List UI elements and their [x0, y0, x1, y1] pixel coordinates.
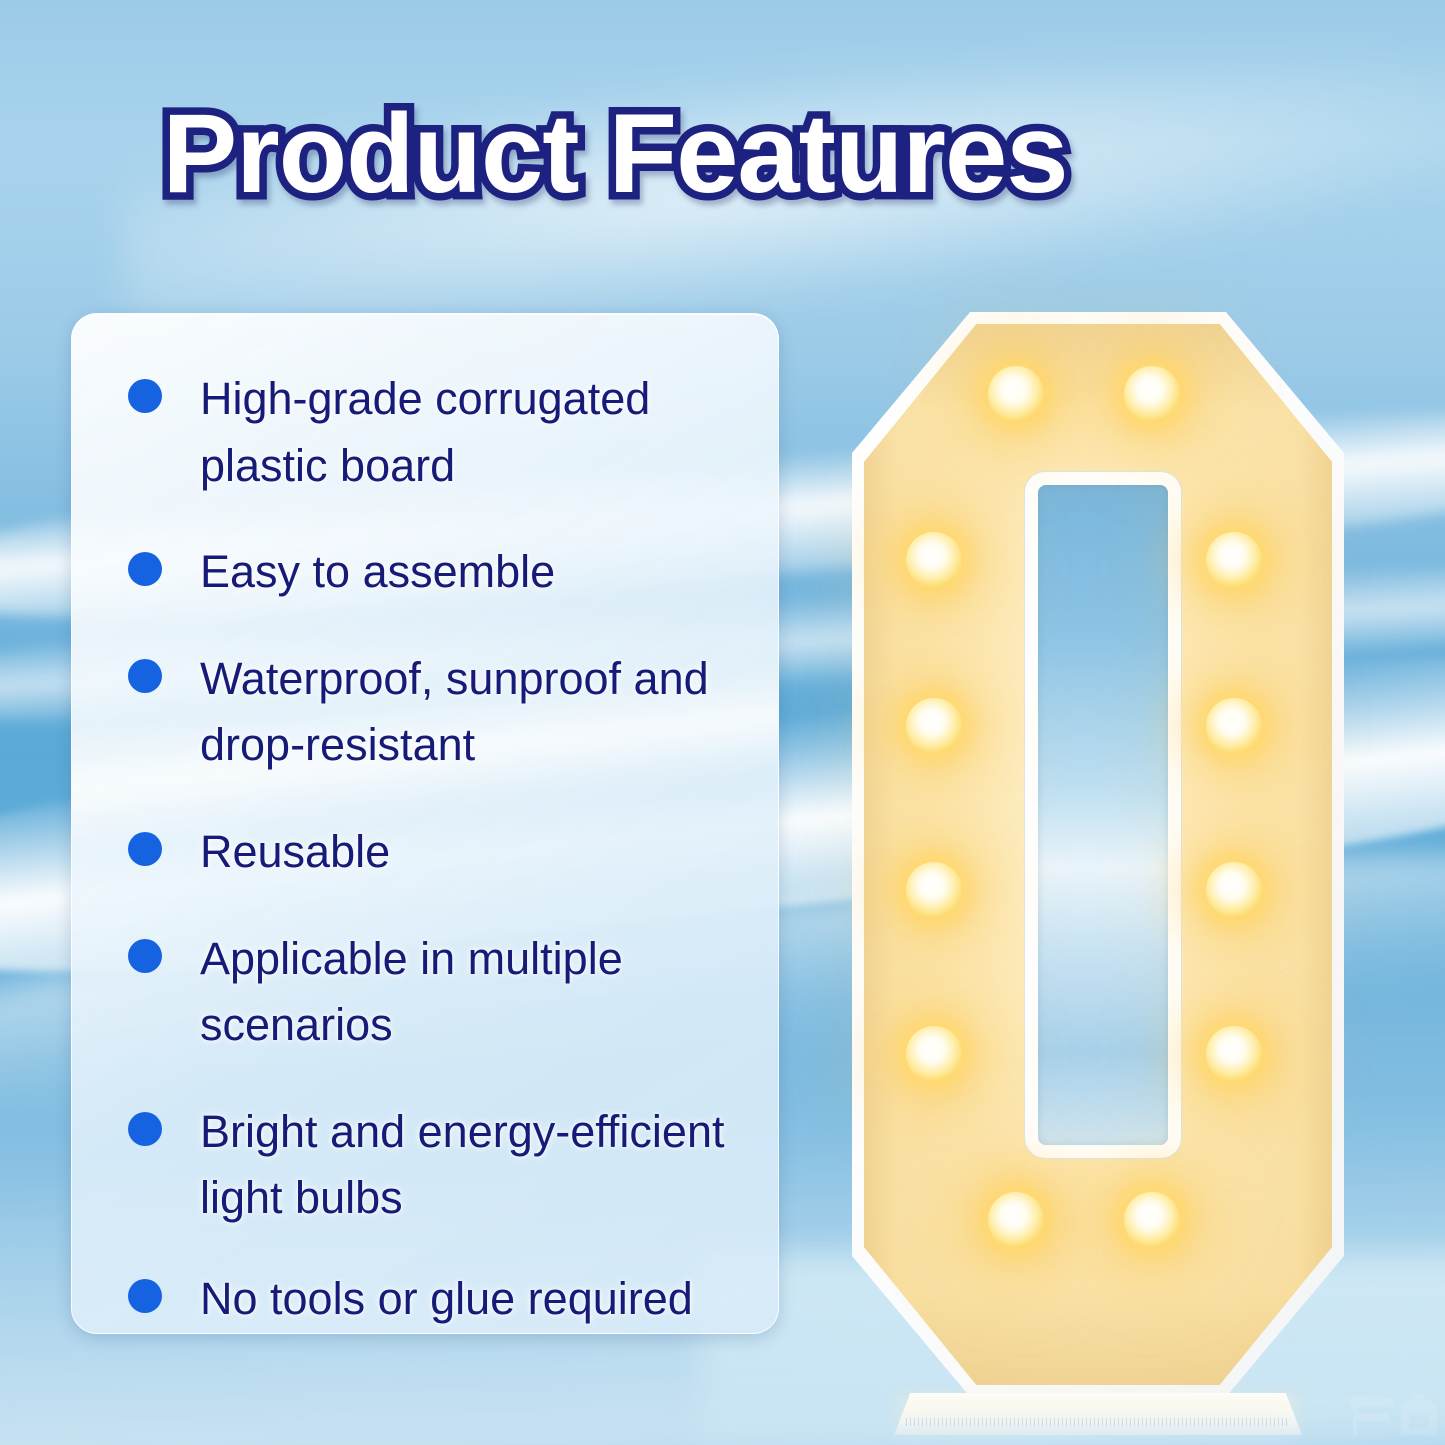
- feature-text: High-grade corrugated plastic board: [200, 366, 752, 499]
- bullet-dot-icon: [128, 1279, 162, 1313]
- product-image-marquee-letter: [852, 312, 1344, 1397]
- light-bulb-icon: [1124, 366, 1180, 422]
- feature-text: Applicable in multiple scenarios: [200, 926, 752, 1059]
- list-item: High-grade corrugated plastic board: [128, 366, 752, 499]
- light-bulb-icon: [906, 698, 962, 754]
- product-feature-graphic: Product Features High-grade corrugated p…: [0, 0, 1445, 1445]
- list-item: Waterproof, sunproof and drop-resistant: [128, 646, 752, 779]
- list-item: Bright and energy-efficient light bulbs: [128, 1099, 752, 1232]
- light-bulb-icon: [906, 1026, 962, 1082]
- list-item: Reusable: [128, 819, 752, 886]
- light-bulb-icon: [988, 1192, 1044, 1248]
- letter-base-stand: [894, 1393, 1302, 1435]
- feature-text: Reusable: [200, 819, 390, 886]
- bullet-dot-icon: [128, 832, 162, 866]
- feature-text: Easy to assemble: [200, 539, 555, 606]
- bullet-dot-icon: [128, 1112, 162, 1146]
- feature-list: High-grade corrugated plastic board Easy…: [72, 314, 778, 1333]
- page-title: Product Features: [0, 95, 1230, 213]
- list-item: No tools or glue required: [128, 1266, 752, 1333]
- feature-panel: High-grade corrugated plastic board Easy…: [71, 313, 779, 1334]
- feature-text: Bright and energy-efficient light bulbs: [200, 1099, 752, 1232]
- light-bulb-icon: [1206, 698, 1262, 754]
- light-bulb-icon: [1206, 1026, 1262, 1082]
- light-bulb-icon: [1206, 862, 1262, 918]
- feature-text: Waterproof, sunproof and drop-resistant: [200, 646, 752, 779]
- feature-text: No tools or glue required: [200, 1266, 693, 1333]
- bullet-dot-icon: [128, 659, 162, 693]
- light-bulb-icon: [1206, 532, 1262, 588]
- light-bulb-icon: [906, 862, 962, 918]
- list-item: Applicable in multiple scenarios: [128, 926, 752, 1059]
- watermark-icon: [1343, 1383, 1439, 1441]
- list-item: Easy to assemble: [128, 539, 752, 606]
- letter-counter-hole: [1038, 485, 1168, 1145]
- light-bulb-icon: [906, 532, 962, 588]
- light-bulb-icon: [988, 366, 1044, 422]
- bullet-dot-icon: [128, 379, 162, 413]
- light-bulb-icon: [1124, 1192, 1180, 1248]
- bullet-dot-icon: [128, 939, 162, 973]
- bullet-dot-icon: [128, 552, 162, 586]
